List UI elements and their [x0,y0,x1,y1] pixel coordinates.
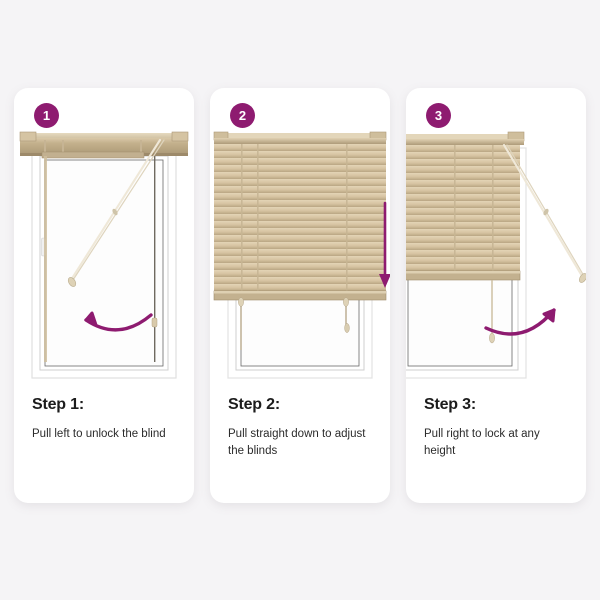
bottom-rail-highlight [214,291,386,294]
cord-tassel-right [343,298,348,307]
step-text-1: Step 1: Pull left to unlock the blind [32,396,182,443]
ladder-tape-right [492,145,494,271]
blind-side-shadow-left [44,156,47,362]
step-description-3: Pull right to lock at any height [424,426,574,461]
headrail-bracket-left [20,132,36,141]
step-title-1: Step 1: [32,396,182,414]
bottom-rail-stowed [42,152,144,158]
step-card-3[interactable]: 3 [406,88,586,503]
step-card-1[interactable]: 1 [14,88,194,503]
cord-track-right [154,156,155,362]
illustration-step-2 [210,88,390,388]
step-badge-1: 1 [34,103,59,128]
window-glass [45,160,163,366]
step-card-2[interactable]: 2 [210,88,390,503]
illustration-step-3 [406,88,586,388]
step-description-2: Pull straight down to adjust the blinds [228,426,378,461]
instruction-diagram: 1 [0,0,600,600]
cord-bead-right [345,323,350,332]
ladder-tape-mid [257,144,259,291]
headrail-body [214,138,386,144]
step-title-3: Step 3: [424,396,574,414]
headrail-body [406,139,524,145]
blind-slat-stack [214,144,386,291]
ladder-tape-left [454,145,456,271]
ladder-tape-right [346,144,348,291]
step-badge-3: 3 [426,103,451,128]
blind-slat-stack [406,145,520,271]
cord-cleat-right [152,318,157,327]
bottom-rail-highlight [406,271,520,274]
cord-tassel-bottom [489,333,494,343]
headrail-bracket-right [172,132,188,141]
ladder-tape-left [241,144,243,291]
step-card-row: 1 [0,88,600,503]
step-text-2: Step 2: Pull straight down to adjust the… [228,396,378,461]
step-text-3: Step 3: Pull right to lock at any height [424,396,574,461]
step-title-2: Step 2: [228,396,378,414]
illustration-step-1 [14,88,194,388]
step-description-1: Pull left to unlock the blind [32,426,182,443]
cord-tassel-left [238,298,243,307]
step-badge-2: 2 [230,103,255,128]
